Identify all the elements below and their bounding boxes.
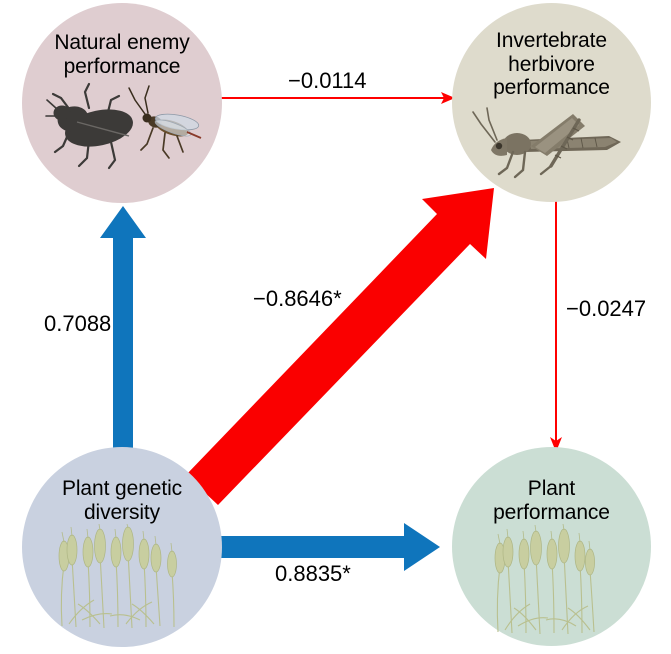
edge-pgd-to-ih-arrow — [186, 188, 494, 505]
edge-ih-to-pp-arrow — [550, 186, 562, 452]
node-invertebrate-herbivore-label: Invertebrate herbivore performance — [493, 29, 610, 100]
edge-label-plant-genetic-diversity-to-plant-performance: 0.8835* — [275, 561, 351, 587]
edge-label-natural-enemy-to-invertebrate-herbivore: −0.0114 — [288, 68, 367, 94]
node-plant-genetic-diversity[interactable]: Plant genetic diversity — [22, 447, 222, 647]
edge-label-plant-genetic-diversity-to-invertebrate-herbivore: −0.8646* — [253, 286, 342, 312]
wheat-plants-icon — [22, 524, 222, 647]
path-diagram-canvas: Natural enemy performance — [0, 0, 671, 654]
node-plant-performance-label: Plant performance — [493, 477, 610, 524]
node-natural-enemy-label: Natural enemy performance — [54, 31, 189, 78]
wheat-plants-icon — [452, 524, 651, 646]
node-natural-enemy-performance[interactable]: Natural enemy performance — [22, 3, 222, 203]
node-plant-performance[interactable]: Plant performance — [452, 447, 651, 646]
node-plant-genetic-diversity-label: Plant genetic diversity — [62, 477, 182, 524]
edge-label-invertebrate-herbivore-to-plant-performance: −0.0247 — [566, 296, 646, 322]
grasshopper-icon — [452, 100, 651, 202]
beetle-and-wasp-icon — [22, 78, 222, 203]
node-invertebrate-herbivore-performance[interactable]: Invertebrate herbivore performance — [452, 3, 651, 202]
edge-label-plant-genetic-diversity-to-natural-enemy: 0.7088 — [44, 311, 111, 337]
